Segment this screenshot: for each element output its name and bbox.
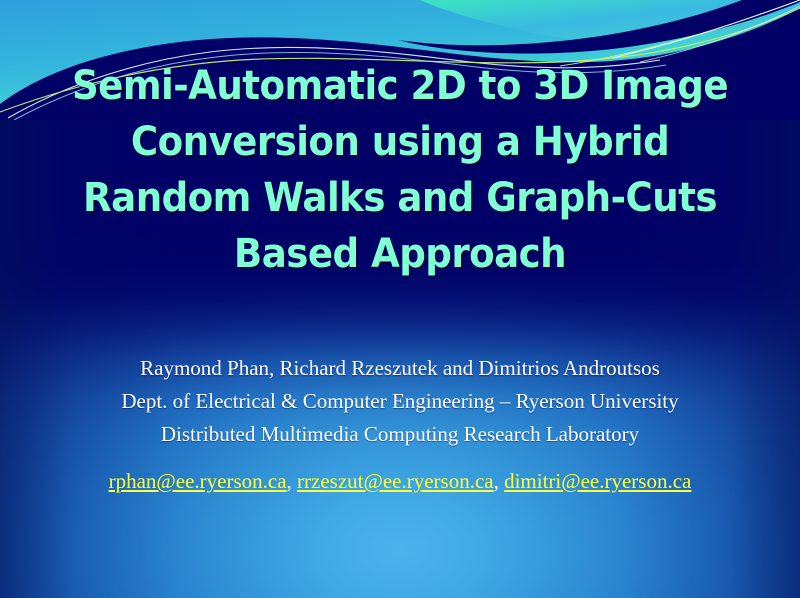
email-separator-1: , xyxy=(287,469,298,493)
email-link-3[interactable]: dimitri@ee.ryerson.ca xyxy=(504,469,691,493)
title-line-2: Conversion using a Hybrid xyxy=(28,114,772,170)
email-link-1[interactable]: rphan@ee.ryerson.ca xyxy=(109,469,287,493)
author-department: Dept. of Electrical & Computer Engineeri… xyxy=(0,385,800,418)
author-names: Raymond Phan, Richard Rzeszutek and Dimi… xyxy=(0,352,800,385)
slide-title: Semi-Automatic 2D to 3D Image Conversion… xyxy=(0,58,800,282)
title-line-4: Based Approach xyxy=(28,226,772,282)
author-laboratory: Distributed Multimedia Computing Researc… xyxy=(0,418,800,451)
presentation-slide: Semi-Automatic 2D to 3D Image Conversion… xyxy=(0,0,800,598)
email-separator-2: , xyxy=(494,469,505,493)
slide-subtitle: Raymond Phan, Richard Rzeszutek and Dimi… xyxy=(0,352,800,451)
title-line-3: Random Walks and Graph-Cuts xyxy=(28,170,772,226)
title-line-1: Semi-Automatic 2D to 3D Image xyxy=(28,58,772,114)
email-links: rphan@ee.ryerson.ca, rrzeszut@ee.ryerson… xyxy=(0,466,800,497)
email-link-2[interactable]: rrzeszut@ee.ryerson.ca xyxy=(297,469,494,493)
